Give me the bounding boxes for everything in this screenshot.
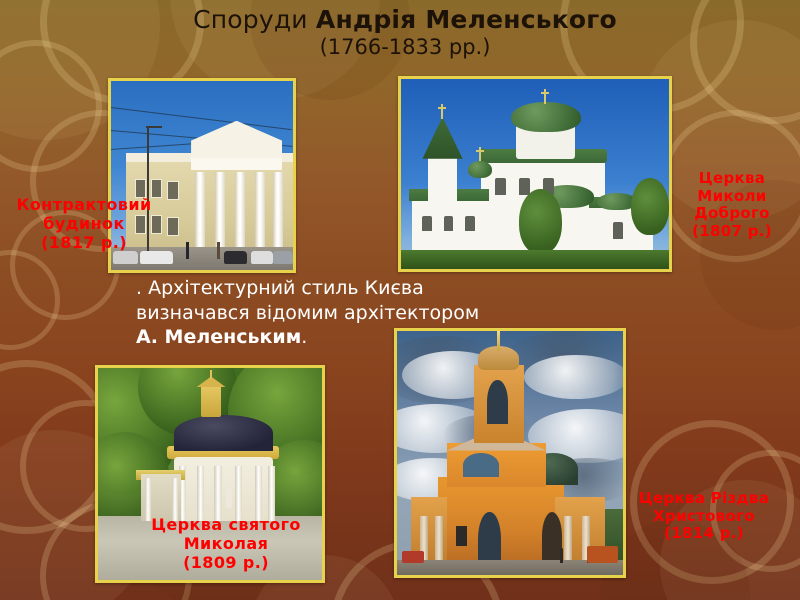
presentation-slide: Споруди Андрія Меленського (1766-1833 рр… (0, 0, 800, 600)
body-architect-name: А. Меленським (136, 326, 301, 348)
photo-rizdva-khrystovoho-church[interactable] (394, 328, 626, 578)
body-line-2: визначався відомим архітектором (136, 301, 566, 326)
slide-title: Споруди Андрія Меленського (1766-1833 рр… (120, 6, 690, 59)
caption-line: Миколи (664, 188, 800, 206)
rizdva-khrystovoho-scene (397, 331, 623, 575)
caption-line: будинок (0, 215, 168, 234)
body-line-3: А. Меленським. (136, 325, 566, 350)
page-title: Споруди Андрія Меленського (120, 6, 690, 35)
caption-mykola-dobry-church: Церква Миколи Доброго (1807 р.) (664, 170, 800, 241)
caption-line: (1817 р.) (0, 234, 168, 253)
caption-line: Церква святого (110, 516, 342, 535)
caption-contract-house: Контрактовий будинок (1817 р.) (0, 196, 168, 253)
caption-line: Контрактовий (0, 196, 168, 215)
caption-line: (1807 р.) (664, 223, 800, 241)
caption-line: Миколая (110, 535, 342, 554)
caption-line: (1814 р.) (608, 525, 800, 543)
title-regular-part: Споруди (193, 5, 316, 34)
photo-mykola-dobry-church[interactable] (398, 76, 672, 272)
slide-body-text: . Архітектурний стиль Києва визначався в… (136, 276, 566, 350)
body-line-3-tail: . (301, 326, 307, 348)
title-bold-part: Андрія Меленського (316, 5, 617, 34)
title-dates: (1766-1833 рр.) (120, 36, 690, 60)
mykola-dobry-scene (401, 79, 669, 269)
caption-line: Церква (664, 170, 800, 188)
body-line-1: . Архітектурний стиль Києва (136, 276, 566, 301)
caption-line: Христового (608, 508, 800, 526)
caption-line: Церква Різдва (608, 490, 800, 508)
caption-line: (1809 р.) (110, 554, 342, 573)
caption-st-mykolaya-church: Церква святого Миколая (1809 р.) (110, 516, 342, 573)
caption-rizdva-khrystovoho-church: Церква Різдва Христового (1814 р.) (608, 490, 800, 543)
caption-line: Доброго (664, 205, 800, 223)
